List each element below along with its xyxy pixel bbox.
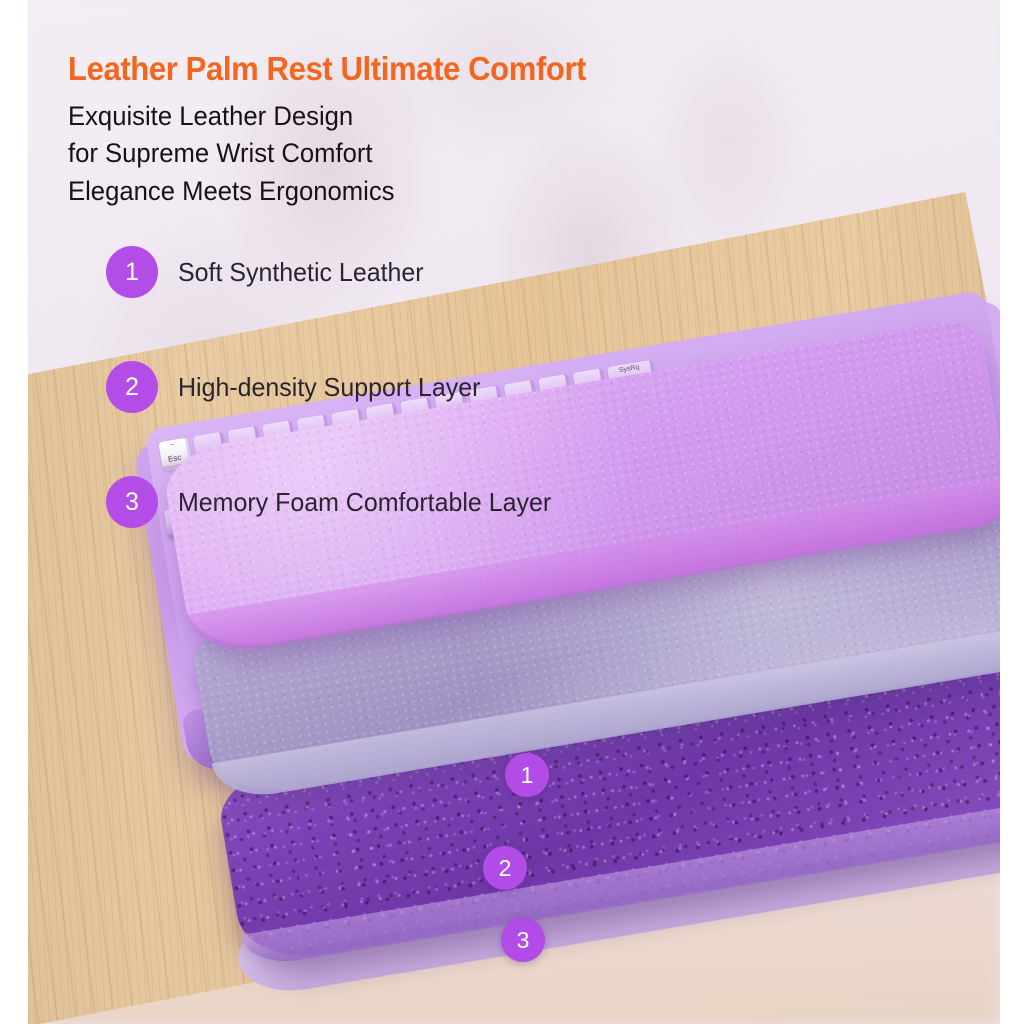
- feature-label-3: Memory Foam Comfortable Layer: [178, 487, 551, 518]
- feature-badge-2: 2: [106, 361, 158, 413]
- subheadline-line-2: for Supreme Wrist Comfort: [68, 135, 752, 172]
- subheadline: Exquisite Leather Design for Supreme Wri…: [68, 98, 752, 210]
- callout-badge-2: 2: [483, 846, 527, 890]
- feature-item-1: 1 Soft Synthetic Leather: [106, 243, 746, 301]
- subheadline-line-1: Exquisite Leather Design: [68, 98, 752, 135]
- feature-badge-1: 1: [106, 246, 158, 298]
- feature-label-1: Soft Synthetic Leather: [178, 257, 424, 288]
- page-title: Leather Palm Rest Ultimate Comfort: [68, 50, 745, 88]
- feature-label-2: High-density Support Layer: [178, 372, 480, 403]
- feature-badge-3: 3: [106, 476, 158, 528]
- subheadline-line-3: Elegance Meets Ergonomics: [68, 173, 752, 210]
- feature-item-3: 3 Memory Foam Comfortable Layer: [106, 473, 746, 531]
- feature-item-2: 2 High-density Support Layer: [106, 358, 746, 416]
- copy-block: Leather Palm Rest Ultimate Comfort Exqui…: [68, 50, 788, 210]
- feature-list: 1 Soft Synthetic Leather 2 High-density …: [106, 243, 746, 588]
- callout-badge-3: 3: [501, 918, 545, 962]
- infographic-frame: ~EscF1F2F3F4F5F6F7F8F9F10F11F12SysRqPrtS…: [0, 0, 1024, 1024]
- product-scene: ~EscF1F2F3F4F5F6F7F8F9F10F11F12SysRqPrtS…: [28, 0, 1000, 1024]
- callout-badge-1: 1: [505, 753, 549, 797]
